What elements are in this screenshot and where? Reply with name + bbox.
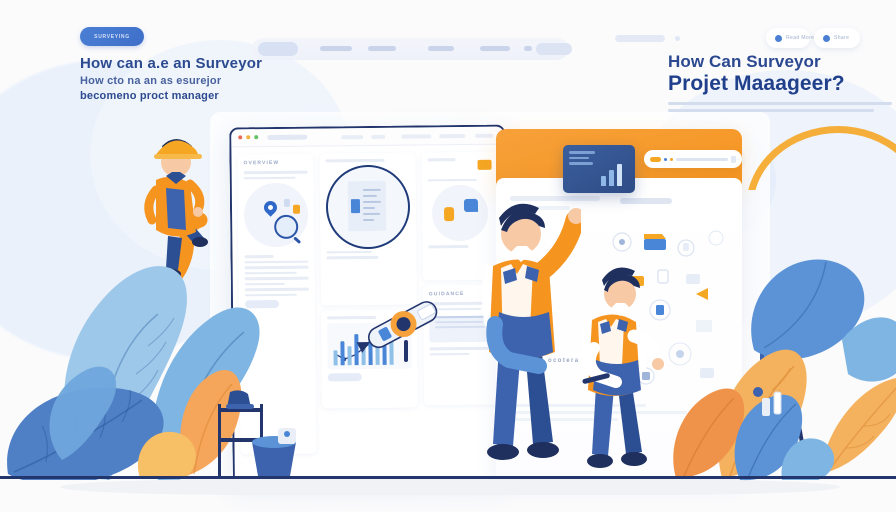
site-logo[interactable] [258,42,298,56]
nav-item-1[interactable] [368,46,396,51]
nav-item-2[interactable] [428,46,454,51]
card-chart-button[interactable] [328,373,362,381]
browser-tab-3[interactable] [439,134,465,138]
headline-right-subtext [668,102,892,112]
search-chip-icon [650,157,661,162]
browser-tab-2[interactable] [401,134,431,138]
tablet-mini-chart [601,164,627,186]
blueprint-illustration [326,164,411,249]
primary-action-icon [775,35,782,42]
card-overview-heading: OVERVIEW [243,160,307,167]
ground-shadow [60,479,840,495]
worker-standing-front [477,186,581,478]
bar-1 [333,350,337,364]
category-badge[interactable]: SURVEYING [80,27,144,46]
headline-left: How can a.e an Surveyor How cto na an as… [80,55,290,103]
search-field[interactable] [676,158,728,161]
headline-left-line3: becomeno proct manager [80,89,290,104]
plant-cluster-right [670,250,896,482]
secondary-action-button[interactable]: Share [814,28,860,48]
primary-action-label: Read More [786,35,814,41]
browser-toolbar[interactable] [231,127,503,148]
category-badge-label: SURVEYING [94,34,130,40]
browser-tab-0[interactable] [341,135,363,139]
illustration-canvas: SURVEYING Read More Share How can a.e an… [0,0,896,512]
tag-icon [478,160,492,170]
search-input[interactable] [644,150,742,168]
secondary-action-icon [823,35,830,42]
breadcrumb-separator-icon [675,36,680,41]
page-title: Projet Maaageer? [668,72,892,96]
speech-bubble-icon [464,199,478,212]
bar-2 [340,341,344,365]
site-nav-bar[interactable] [252,38,568,60]
browser-tab-4[interactable] [475,134,493,138]
map-pin-icon [261,198,279,216]
search-dot-orange-icon [670,158,673,161]
decorative-swoosh [736,120,896,190]
headline-left-line1: How can a.e an Surveyor [80,55,290,74]
card-blueprint[interactable] [319,153,417,306]
window-maximize-icon[interactable] [254,135,258,139]
small-doc-icon [284,199,290,207]
window-close-icon[interactable] [238,135,242,139]
headline-left-line2: How cto na an as esurejor [80,74,290,89]
window-minimize-icon[interactable] [246,135,250,139]
primary-action-button[interactable]: Read More [766,28,810,48]
headline-right-line1: How Can Surveyor [668,52,892,72]
breadcrumb[interactable] [615,35,665,42]
small-tag-icon [293,205,300,214]
secondary-action-label: Share [834,35,849,41]
search-dot-blue-icon [664,158,667,161]
nav-signin-button[interactable] [536,43,572,55]
blueprint-sheet-icon [348,180,387,230]
nav-item-lang[interactable] [524,46,532,51]
browser-tab-1[interactable] [371,135,385,139]
headline-right: How Can Surveyor Projet Maaageer? [668,52,892,116]
nav-item-3[interactable] [480,46,510,51]
address-bar[interactable] [267,135,307,140]
paint-bucket-prop [248,428,300,478]
telescope-rocket-prop [352,286,464,362]
ground-line [0,476,896,479]
avatar [444,207,454,221]
panel-header-line-3 [620,198,672,204]
worker-kneeling [578,256,664,478]
nav-item-0[interactable] [320,46,352,51]
